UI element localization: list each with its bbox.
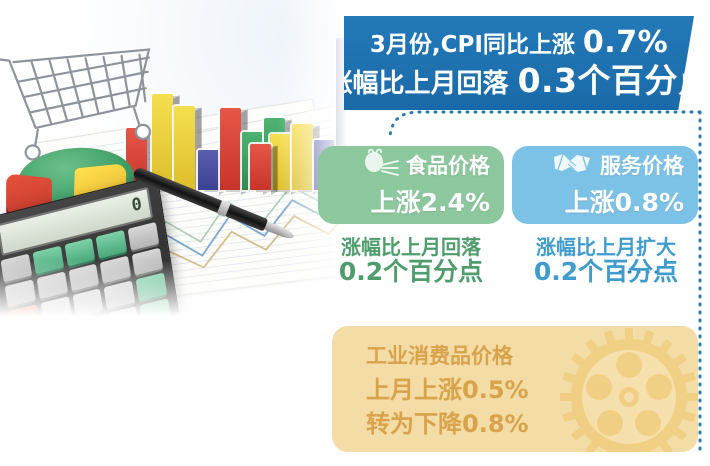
card-food-note-line2: 0.2个百分点 bbox=[312, 258, 510, 286]
header-banner: 3月份,CPI同比上涨 0.7% 涨幅比上月回落 0.3个百分点 bbox=[344, 16, 694, 110]
card-industrial-price: 工业消费品价格 上月上涨0.5% 转为下降0.8% bbox=[332, 326, 698, 452]
card-food-value-row: 上涨2.4% bbox=[318, 184, 504, 218]
card-food-title: 食品价格 bbox=[406, 150, 490, 180]
card-service-value: 上涨0.8% bbox=[565, 183, 684, 219]
card-food-price: 食品价格 上涨2.4% bbox=[318, 146, 504, 224]
card-service-note: 涨幅比上月扩大 0.2个百分点 bbox=[508, 236, 704, 286]
card-industrial-line2: 转为下降0.8% bbox=[366, 407, 529, 442]
card-industrial-text: 工业消费品价格 上月上涨0.5% 转为下降0.8% bbox=[366, 340, 529, 442]
gear-icon bbox=[554, 326, 698, 452]
banner-line-2: 涨幅比上月回落 0.3个百分点 bbox=[326, 63, 710, 100]
banner-line-1-value: 0.7% bbox=[583, 25, 668, 60]
shopping-cart-icon bbox=[0, 24, 186, 165]
card-industrial-title: 工业消费品价格 bbox=[366, 340, 529, 373]
bar-column bbox=[198, 150, 219, 190]
card-service-header: 服务价格 bbox=[512, 146, 698, 184]
card-service-value-row: 上涨0.8% bbox=[512, 184, 698, 218]
handshake-icon bbox=[550, 148, 594, 182]
banner-line-1-text: 3月份,CPI同比上涨 bbox=[370, 32, 575, 58]
banner-line-2-text: 涨幅比上月回落 bbox=[326, 69, 508, 99]
card-service-note-line1: 涨幅比上月扩大 bbox=[508, 236, 704, 258]
card-food-header: 食品价格 bbox=[318, 146, 504, 184]
banner-line-2-value: 0.3个百分点 bbox=[518, 61, 710, 100]
bar-column bbox=[220, 108, 241, 190]
calculator-display-value: 0 bbox=[130, 194, 144, 217]
card-industrial-line1: 上月上涨0.5% bbox=[366, 373, 529, 408]
card-service-title: 服务价格 bbox=[600, 150, 684, 180]
banner-line-1: 3月份,CPI同比上涨 0.7% bbox=[370, 26, 668, 60]
card-service-note-line2: 0.2个百分点 bbox=[508, 258, 704, 286]
bar-column bbox=[250, 144, 271, 190]
card-food-note-line1: 涨幅比上月回落 bbox=[312, 236, 510, 258]
radish-vegetable-icon bbox=[360, 148, 400, 182]
card-service-price: 服务价格 上涨0.8% bbox=[512, 146, 698, 224]
card-food-value: 上涨2.4% bbox=[371, 183, 490, 219]
infographic-canvas: 0 3月份,CPI同比上涨 0.7% 涨幅比上月回落 0.3 bbox=[0, 0, 710, 466]
card-food-note: 涨幅比上月回落 0.2个百分点 bbox=[312, 236, 510, 286]
